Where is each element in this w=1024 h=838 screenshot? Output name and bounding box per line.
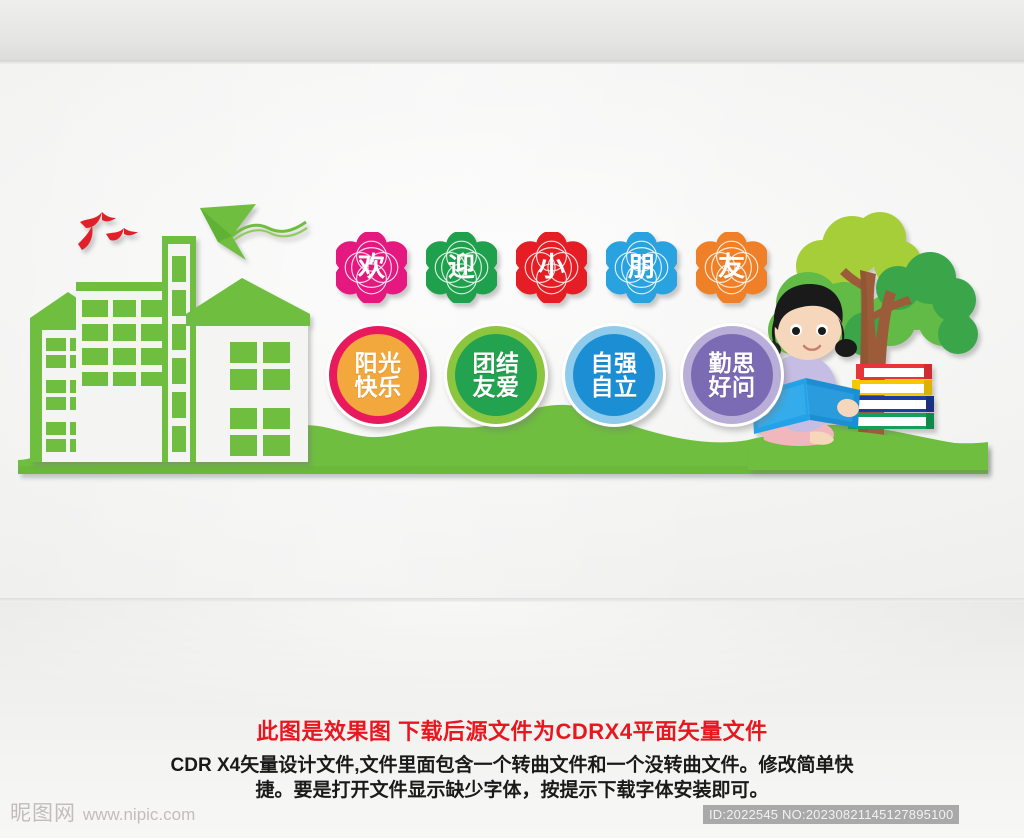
badge-char: 小: [538, 254, 565, 281]
badge-char: 迎: [448, 254, 475, 281]
badge-char: 欢: [358, 254, 385, 281]
slogan-label: 自强 自立: [591, 351, 638, 399]
slogan-circle[interactable]: 勤思 好问: [680, 323, 784, 427]
welcome-badge[interactable]: 欢: [336, 232, 407, 303]
site-url: www.nipic.com: [83, 805, 195, 824]
slogan-label: 阳光 快乐: [355, 351, 402, 399]
slogan-line-2: 自立: [591, 375, 638, 399]
caption-line-2: 捷。要是打开文件显示缺少字体，按提示下载字体安装即可。: [60, 778, 964, 804]
badge-char: 朋: [628, 254, 655, 281]
slogan-line-2: 友爱: [473, 375, 520, 399]
welcome-badge[interactable]: 友: [696, 232, 767, 303]
slogan-line-2: 快乐: [355, 375, 402, 399]
welcome-badge[interactable]: 迎: [426, 232, 497, 303]
site-name: 昵图网: [10, 802, 76, 825]
site-watermark: 昵图网 www.nipic.com: [10, 797, 195, 827]
badge-char: 友: [718, 254, 745, 281]
welcome-badge-row: 欢 迎: [336, 232, 767, 303]
slogan-line-1: 阳光: [355, 351, 402, 375]
caption-block: 此图是效果图 下载后源文件为CDRX4平面矢量文件 CDR X4矢量设计文件,文…: [0, 718, 1024, 804]
slogan-line-1: 勤思: [709, 351, 756, 375]
ceiling: [0, 0, 1024, 62]
slogan-label: 勤思 好问: [709, 351, 756, 399]
slogan-line-1: 自强: [591, 351, 638, 375]
welcome-badge[interactable]: 朋: [606, 232, 677, 303]
birds: [76, 208, 146, 260]
slogan-circle-row: 阳光 快乐 团结 友爱 自强 自立: [326, 323, 784, 427]
slogan-line-1: 团结: [473, 351, 520, 375]
image-id-watermark: ID:2022545 NO:20230821145127895100: [703, 805, 959, 824]
caption-headline: 此图是效果图 下载后源文件为CDRX4平面矢量文件: [0, 718, 1024, 746]
kite: [198, 202, 308, 264]
slogan-circle[interactable]: 团结 友爱: [444, 323, 548, 427]
tree-and-child-scene: [748, 208, 988, 470]
welcome-badge[interactable]: 小: [516, 232, 587, 303]
wall-artwork: 欢 迎: [0, 150, 1024, 480]
slogan-line-2: 好问: [709, 375, 756, 399]
slogan-circle[interactable]: 自强 自立: [562, 323, 666, 427]
floor-reflection: [0, 602, 1024, 722]
slogan-label: 团结 友爱: [473, 351, 520, 399]
slogan-circle[interactable]: 阳光 快乐: [326, 323, 430, 427]
caption-line-1: CDR X4矢量设计文件,文件里面包含一个转曲文件和一个没转曲文件。修改简单快: [171, 755, 854, 776]
